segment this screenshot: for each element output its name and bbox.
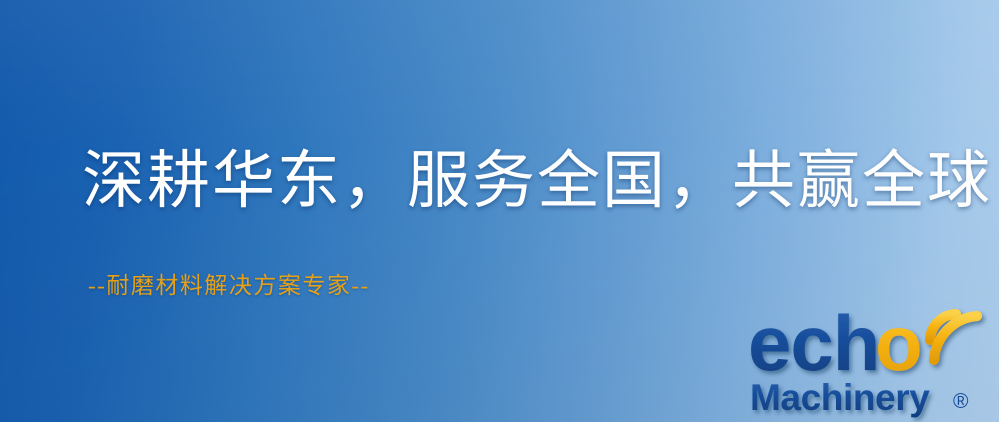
promo-banner: 深耕华东，服务全国，共赢全球 --耐磨材料解决方案专家-- <box>0 0 999 422</box>
banner-subtitle: --耐磨材料解决方案专家-- <box>88 266 370 300</box>
banner-headline: 深耕华东，服务全国，共赢全球 <box>82 148 992 214</box>
logo-wordmark-o: o <box>875 299 923 387</box>
logo-tagline: Machinery <box>750 377 930 418</box>
echo-machinery-logo: ech o Machinery ® <box>748 296 996 422</box>
echo-wave-arcs <box>930 314 977 360</box>
logo-graphic: ech o Machinery ® <box>748 296 996 422</box>
logo-wordmark-ech: ech <box>748 299 879 387</box>
logo-registered-mark: ® <box>953 390 969 413</box>
